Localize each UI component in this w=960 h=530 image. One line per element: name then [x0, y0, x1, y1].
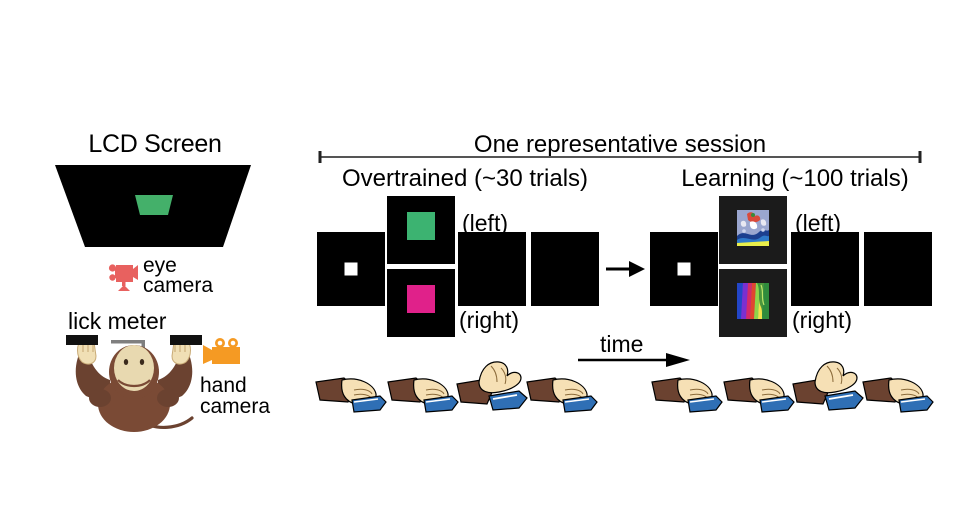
- hand-step-lift-2: [791, 360, 865, 418]
- right-touch-bar: [170, 335, 202, 345]
- hand-step-rest-5: [722, 372, 796, 418]
- learning-cue-right-frame: [719, 269, 787, 337]
- overtrained-right-side-label: (right): [459, 307, 519, 334]
- hand-camera-label: hand camera: [200, 375, 295, 417]
- learning-fixation-frame: [650, 232, 718, 306]
- green-square-stimulus: [407, 212, 435, 240]
- eye-camera-icon: [108, 259, 138, 293]
- phase-transition-arrow-icon: [605, 258, 645, 280]
- eye-camera-group: eye camera: [108, 256, 213, 296]
- hand-step-rest-6: [861, 372, 935, 418]
- hand-step-rest-3: [525, 372, 599, 418]
- hand-camera-label-line2: camera: [200, 396, 295, 417]
- magenta-square-stimulus: [407, 285, 435, 313]
- fractal-image-blue-stimulus: [737, 210, 769, 246]
- eye-camera-label: eye camera: [143, 256, 213, 296]
- learning-right-side-label: (right): [792, 307, 852, 334]
- hand-camera-group: hand camera: [200, 337, 295, 417]
- overtrained-phase-title: Overtrained (~30 trials): [320, 165, 610, 193]
- time-axis-arrow-icon: [578, 352, 690, 368]
- hand-camera-icon: [200, 337, 252, 369]
- lick-meter-label: lick meter: [68, 308, 166, 335]
- hand-step-rest-4: [650, 372, 724, 418]
- overtrained-blank-frame-1: [458, 232, 526, 306]
- hand-camera-label-line1: hand: [200, 374, 247, 397]
- fixation-dot: [345, 263, 358, 276]
- hand-step-rest-2: [386, 372, 460, 418]
- learning-blank-frame-2: [864, 232, 932, 306]
- overtrained-blank-frame-2: [531, 232, 599, 306]
- learning-blank-frame-1: [791, 232, 859, 306]
- hand-step-lift: [455, 360, 529, 418]
- left-touch-bar: [66, 335, 98, 345]
- fractal-image-rainbow-stimulus: [737, 283, 769, 319]
- learning-cue-left-frame: [719, 196, 787, 264]
- overtrained-cue-right-frame: [387, 269, 455, 337]
- eye-camera-label-line2: camera: [143, 276, 213, 296]
- monkey-subject-illustration: [52, 332, 217, 432]
- overtrained-cue-left-frame: [387, 196, 455, 264]
- lcd-screen-label: LCD Screen: [60, 130, 250, 159]
- overtrained-fixation-frame: [317, 232, 385, 306]
- learning-phase-title: Learning (~100 trials): [650, 165, 940, 193]
- hand-step-rest-1: [314, 372, 388, 418]
- session-span-bracket: [318, 150, 922, 164]
- lcd-screen-shape: [55, 163, 251, 249]
- fixation-dot: [678, 263, 691, 276]
- figure-canvas: LCD Screen eye camera lick meter: [0, 0, 960, 530]
